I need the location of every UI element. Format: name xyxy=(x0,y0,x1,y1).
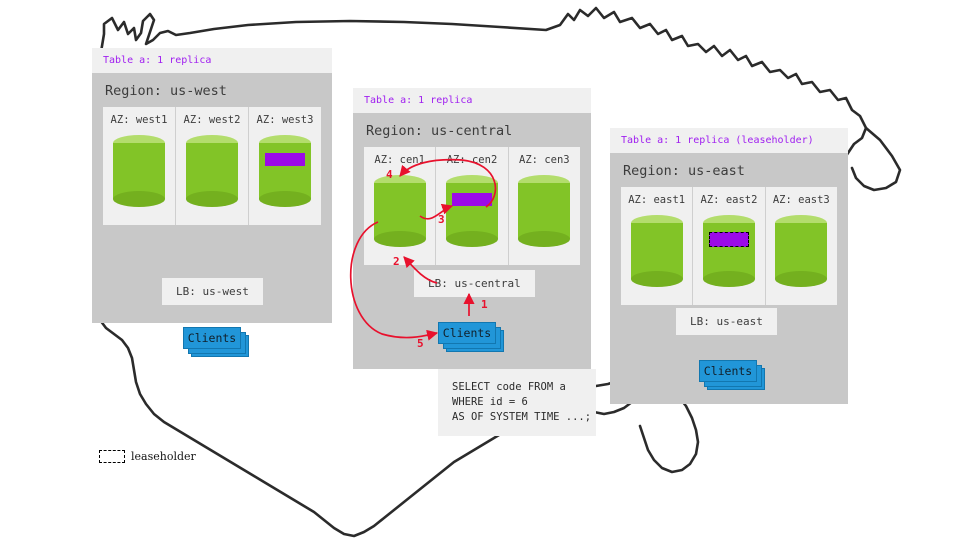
clients-us-east[interactable]: Clients xyxy=(699,360,765,390)
cylinder-bottom xyxy=(446,231,498,247)
flow-label-2: 2 xyxy=(393,255,400,268)
flow-label-4: 4 xyxy=(386,168,393,181)
az-label-cen3: AZ: cen3 xyxy=(519,154,570,166)
cylinder-bottom xyxy=(518,231,570,247)
load-balancer-us-west[interactable]: LB: us-west xyxy=(162,278,263,305)
cylinder-bottom xyxy=(259,191,311,207)
region-title-us-east: Region: us-east xyxy=(610,153,848,187)
az-strip-us-central: AZ: cen1 AZ: cen2 AZ: cen3 xyxy=(364,147,580,265)
node-cylinder-cen2[interactable] xyxy=(446,175,498,247)
node-cylinder-cen1[interactable] xyxy=(374,175,426,247)
cylinder-bottom xyxy=(631,271,683,287)
az-label-cen2: AZ: cen2 xyxy=(447,154,498,166)
flow-label-3: 3 xyxy=(438,213,445,226)
az-west2[interactable]: AZ: west2 xyxy=(175,107,248,225)
flow-label-1: 1 xyxy=(481,298,488,311)
cylinder-bottom xyxy=(186,191,238,207)
cylinder-bottom xyxy=(374,231,426,247)
az-strip-us-east: AZ: east1 AZ: east2 AZ: east3 xyxy=(621,187,837,305)
cylinder-bottom xyxy=(703,271,755,287)
legend: leaseholder xyxy=(99,450,196,463)
clients-card-front[interactable]: Clients xyxy=(183,327,241,349)
az-cen2[interactable]: AZ: cen2 xyxy=(435,147,507,265)
az-label-cen1: AZ: cen1 xyxy=(374,154,425,166)
leaseholder-marker-east2[interactable] xyxy=(709,232,749,247)
load-balancer-us-east[interactable]: LB: us-east xyxy=(676,308,777,335)
region-title-us-west: Region: us-west xyxy=(92,73,332,107)
az-cen3[interactable]: AZ: cen3 xyxy=(508,147,580,265)
node-cylinder-east3[interactable] xyxy=(775,215,827,287)
az-label-east1: AZ: east1 xyxy=(628,194,685,206)
sql-query-box: SELECT code FROM a WHERE id = 6 AS OF SY… xyxy=(438,369,596,436)
diagram-canvas: Table a: 1 replica Region: us-west AZ: w… xyxy=(0,0,960,540)
flow-label-5: 5 xyxy=(417,337,424,350)
node-cylinder-west1[interactable] xyxy=(113,135,165,207)
legend-label: leaseholder xyxy=(131,450,196,463)
az-east2[interactable]: AZ: east2 xyxy=(692,187,764,305)
az-label-east2: AZ: east2 xyxy=(701,194,758,206)
replica-marker-west3[interactable] xyxy=(265,153,305,166)
az-west3[interactable]: AZ: west3 xyxy=(248,107,321,225)
az-label-west3: AZ: west3 xyxy=(257,114,314,126)
node-cylinder-west2[interactable] xyxy=(186,135,238,207)
replica-marker-cen2[interactable] xyxy=(452,193,492,206)
region-panel-us-west: Table a: 1 replica Region: us-west AZ: w… xyxy=(92,48,332,323)
az-strip-us-west: AZ: west1 AZ: west2 AZ: west3 xyxy=(103,107,321,225)
node-cylinder-west3[interactable] xyxy=(259,135,311,207)
az-west1[interactable]: AZ: west1 xyxy=(103,107,175,225)
node-cylinder-east2[interactable] xyxy=(703,215,755,287)
az-east1[interactable]: AZ: east1 xyxy=(621,187,692,305)
region-header-us-east: Table a: 1 replica (leaseholder) xyxy=(610,128,848,153)
region-title-us-central: Region: us-central xyxy=(353,113,591,147)
az-east3[interactable]: AZ: east3 xyxy=(765,187,837,305)
az-label-east3: AZ: east3 xyxy=(773,194,830,206)
clients-card-front[interactable]: Clients xyxy=(438,322,496,344)
cylinder-bottom xyxy=(775,271,827,287)
clients-us-west[interactable]: Clients xyxy=(183,327,249,357)
az-label-west2: AZ: west2 xyxy=(184,114,241,126)
region-header-us-west: Table a: 1 replica xyxy=(92,48,332,73)
leaseholder-swatch-icon xyxy=(99,450,125,463)
az-label-west1: AZ: west1 xyxy=(111,114,168,126)
load-balancer-us-central[interactable]: LB: us-central xyxy=(414,270,535,297)
cylinder-bottom xyxy=(113,191,165,207)
node-cylinder-east1[interactable] xyxy=(631,215,683,287)
clients-card-front[interactable]: Clients xyxy=(699,360,757,382)
node-cylinder-cen3[interactable] xyxy=(518,175,570,247)
region-panel-us-east: Table a: 1 replica (leaseholder) Region:… xyxy=(610,128,848,404)
region-panel-us-central: Table a: 1 replica Region: us-central AZ… xyxy=(353,88,591,369)
az-cen1[interactable]: AZ: cen1 xyxy=(364,147,435,265)
clients-us-central[interactable]: Clients xyxy=(438,322,504,352)
region-header-us-central: Table a: 1 replica xyxy=(353,88,591,113)
